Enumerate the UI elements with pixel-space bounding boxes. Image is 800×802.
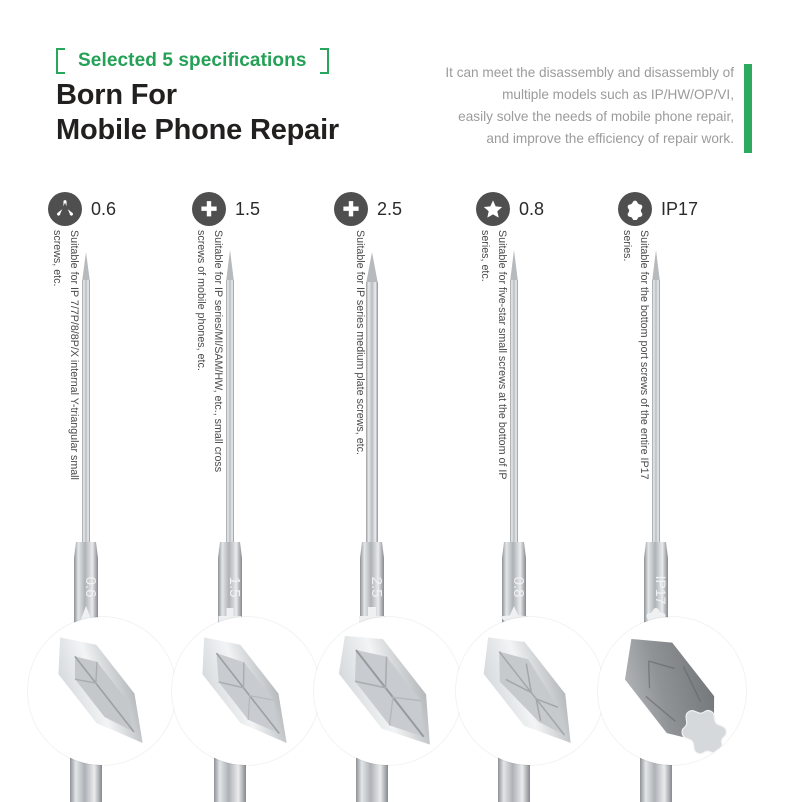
- bit-list: 0.6 Suitable for IP 7/7P/8/8P/X internal…: [0, 180, 800, 800]
- bit-item: 0.6 Suitable for IP 7/7P/8/8P/X internal…: [36, 180, 196, 800]
- shank-mark: 1.5: [226, 577, 243, 598]
- bracket-right-icon: [316, 48, 329, 74]
- shank-mark: 0.6: [82, 577, 99, 598]
- shank-mark: IP17: [653, 576, 669, 605]
- tip-magnifier: [314, 617, 462, 765]
- product-infographic: Selected 5 specifications Born For Mobil…: [0, 0, 800, 800]
- badge-label: Selected 5 specifications: [69, 48, 316, 74]
- intro-paragraph: It can meet the disassembly and disassem…: [382, 62, 734, 151]
- tip-magnifier: [598, 617, 746, 765]
- tip-magnifier: [172, 617, 320, 765]
- tip-magnifier: [456, 617, 604, 765]
- badge: Selected 5 specifications: [56, 48, 329, 74]
- page-title: Born For Mobile Phone Repair: [56, 78, 339, 149]
- bracket-left-icon: [56, 48, 69, 74]
- tip-magnifier: [28, 617, 176, 765]
- shank-mark: 2.5: [368, 577, 385, 598]
- shank-mark: 0.8: [510, 577, 527, 598]
- bit-item: IP17 Suitable for the bottom port screws…: [606, 180, 766, 800]
- header: Selected 5 specifications Born For Mobil…: [0, 0, 800, 180]
- accent-bar: [744, 64, 752, 153]
